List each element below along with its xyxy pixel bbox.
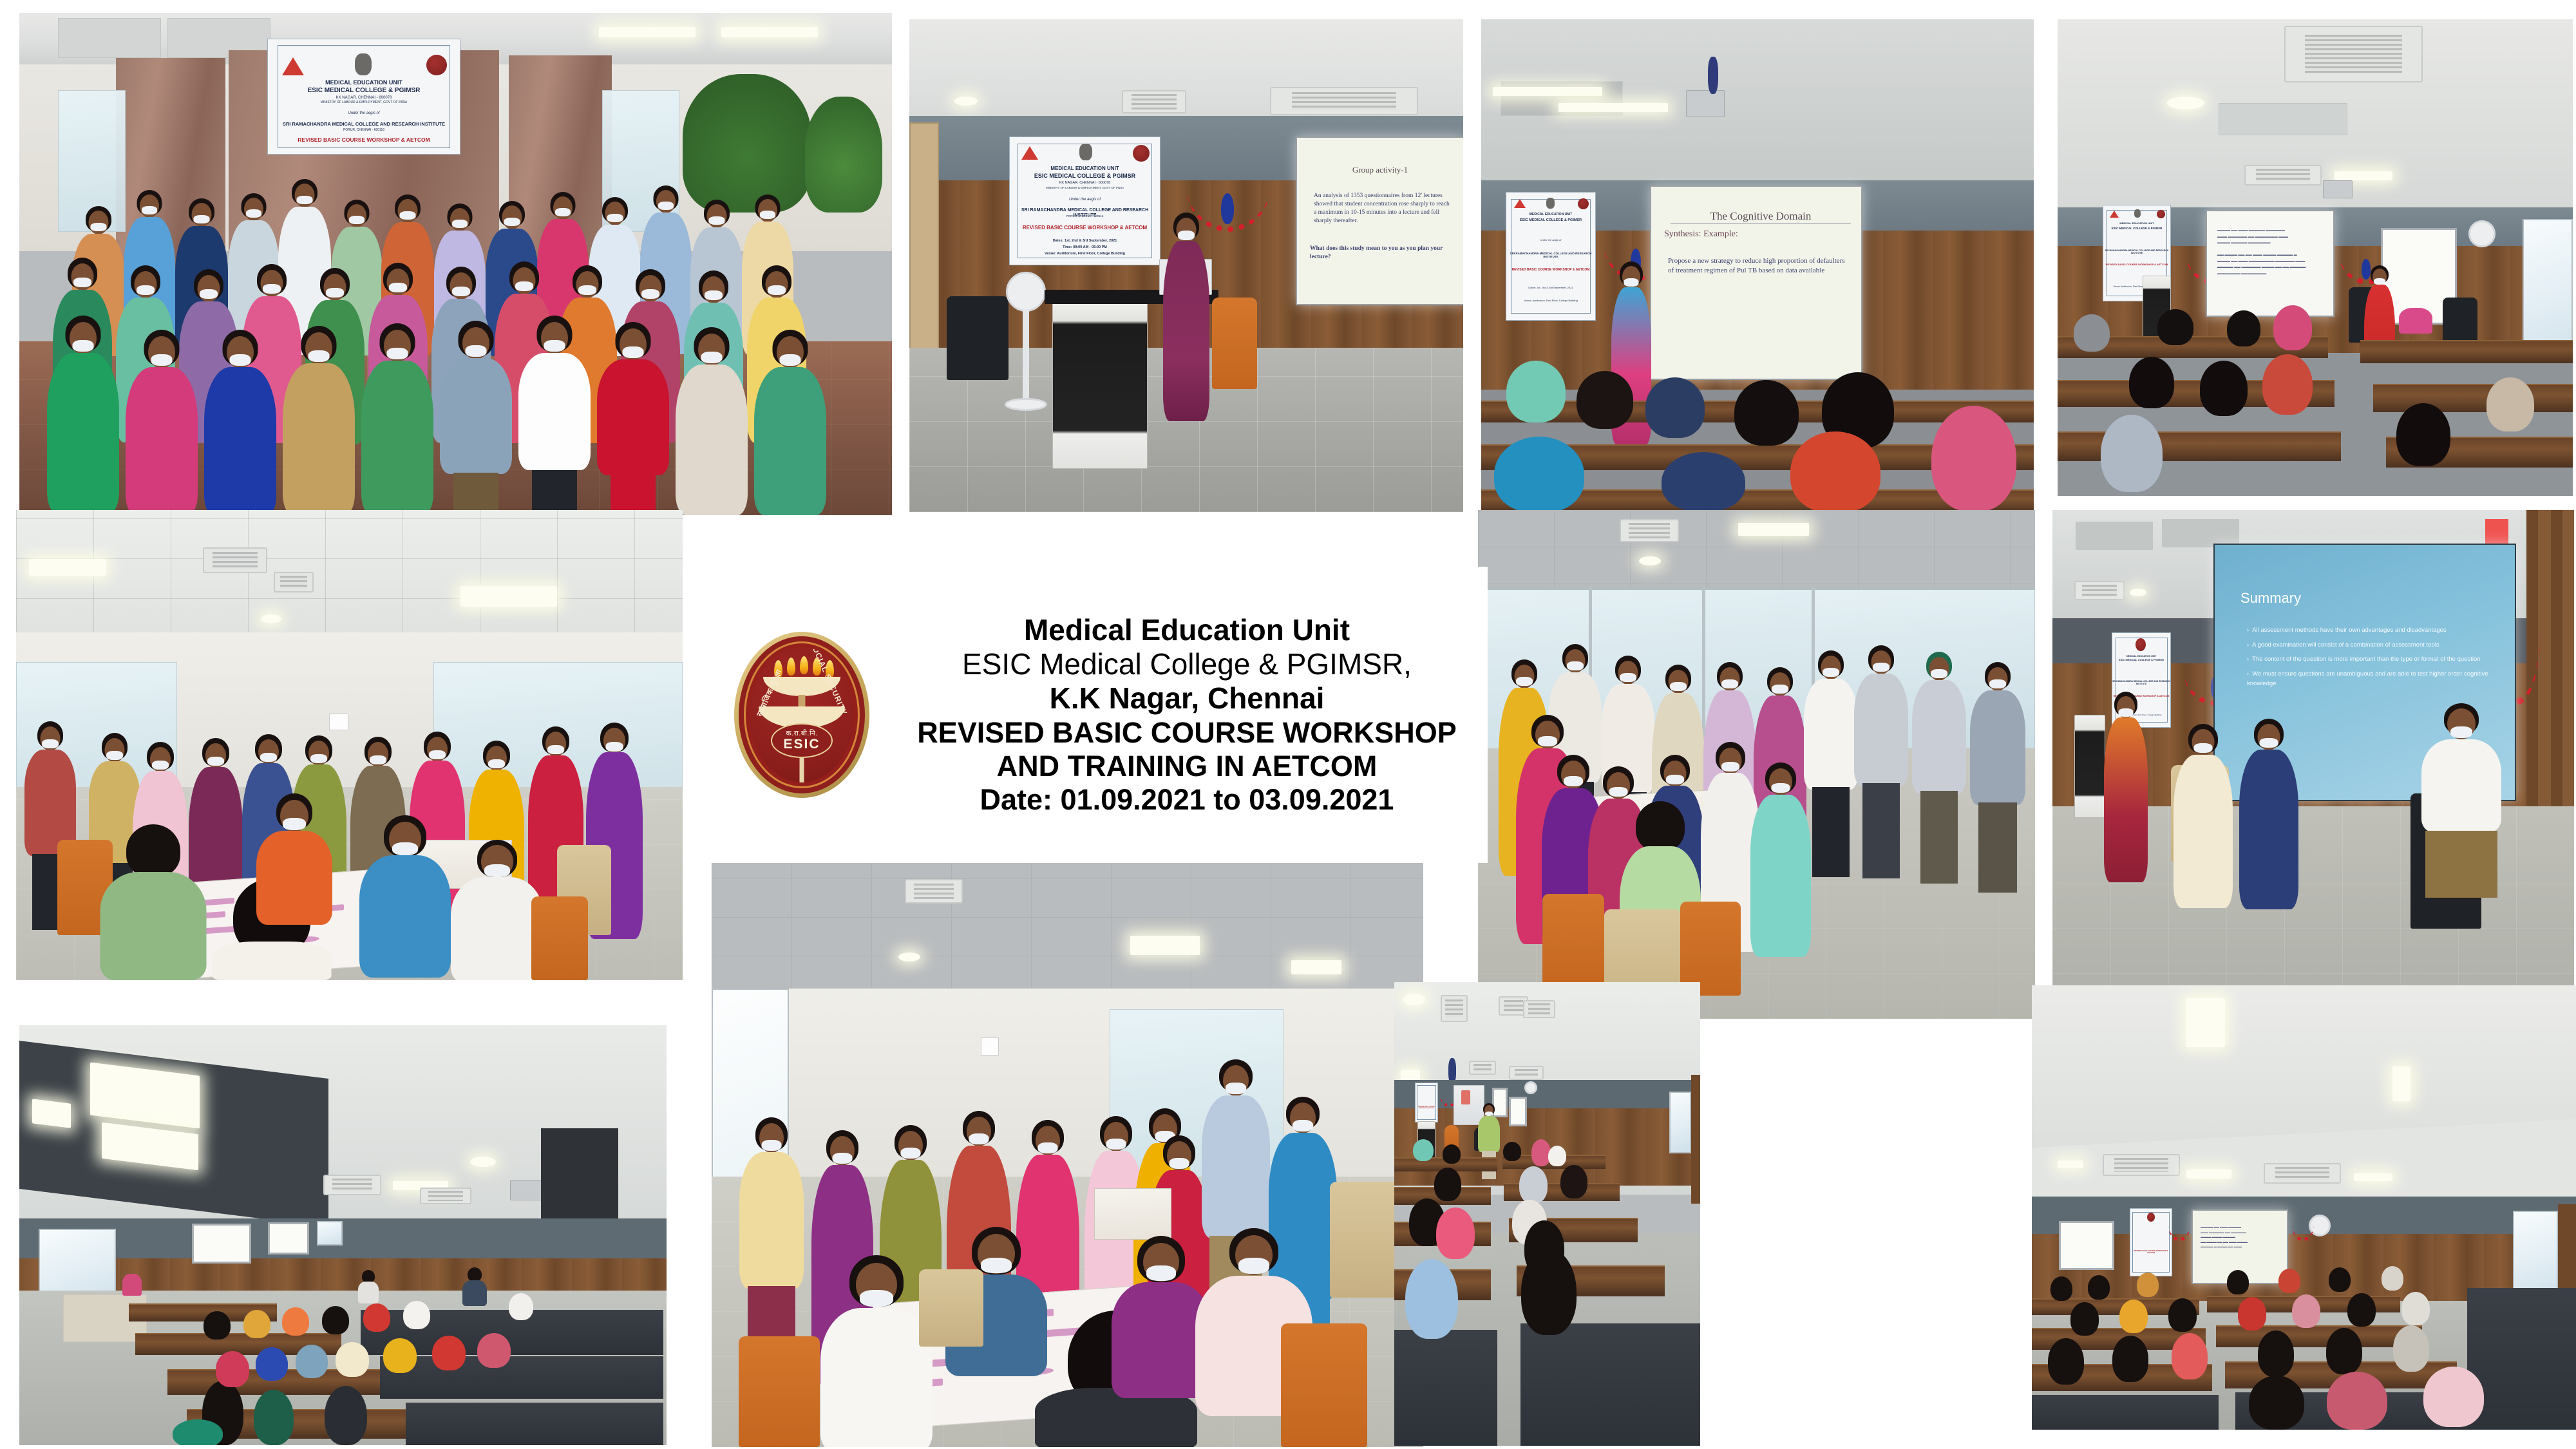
podium-banner-line-3: KK NAGAR, CHENNAI - 600078 — [1010, 181, 1160, 185]
banner-line-2: ESIC MEDICAL COLLEGE & PGIMSR — [268, 87, 460, 95]
title-line-6: Date: 01.09.2021 to 03.09.2021 — [886, 783, 1488, 817]
hall-banner-line-6: SRI RAMACHANDRA MEDICAL COLLEGE AND RESE… — [2103, 249, 2170, 254]
banner-line-7: PORUR, CHENNAI - 600116 — [268, 129, 460, 133]
cognitive-banner-line-8: REVISED BASIC COURSE WORKSHOP & AETCOM — [1506, 269, 1595, 272]
hall-banner-line-1: MEDICAL EDUCATION UNIT — [2103, 222, 2170, 225]
podium-banner-line-7: PORUR, CHENNAI - 600116 — [1010, 214, 1160, 218]
cognitive-banner-line-6: SRI RAMACHANDRA MEDICAL COLLEGE AND RESE… — [1506, 252, 1595, 258]
photo-small-group-discussion-left — [16, 510, 683, 980]
presenter-standing — [2103, 692, 2149, 885]
summary-bullet-1: All assessment methods have their own ad… — [2252, 627, 2447, 634]
caption-0: Large group photograph of workshop parti… — [0, 0, 1, 1]
event-banner: MEDICAL EDUCATION UNIT ESIC MEDICAL COLL… — [267, 39, 460, 155]
photo-auditorium-audience-right: REVISED BASIC COURSE WORKSHOP & AETCOM ▬… — [2032, 985, 2576, 1430]
slide-question-group-activity: What does this study mean to you as you … — [1310, 245, 1453, 261]
title-line-1: Medical Education Unit — [886, 613, 1488, 647]
event-banner-podium: MEDICAL EDUCATION UNIT ESIC MEDICAL COLL… — [1009, 137, 1160, 265]
podium-banner-line-10: Time: 09:00 AM - 05:00 PM — [1010, 245, 1160, 249]
title-line-3: K.K Nagar, Chennai — [886, 681, 1488, 715]
hall-banner-line-2: ESIC MEDICAL COLLEGE & PGIMSR — [2103, 227, 2170, 230]
podium-banner-line-5: Under the aegis of — [1010, 198, 1160, 202]
slide-bullet-cognitive-domain: Propose a new strategy to reduce high pr… — [1668, 256, 1850, 276]
title-line-5: AND TRAINING IN AETCOM — [886, 750, 1488, 783]
audience-banner-line-8: REVISED BASIC COURSE WORKSHOP & AETCOM — [2130, 1250, 2172, 1254]
center-title-block: क.रा.बी.नि. ESIC SOCIAL SECURITY सामाजिक… — [708, 567, 1488, 863]
slide-subtitle-cognitive-domain: Synthesis: Example: — [1664, 229, 1738, 240]
slide-text-placeholder: ▬▬▬▬ ▬▬ ▬▬▬ ▬▬▬▬▬ ▬▬▬▬▬▬▬▬▬ ▬▬▬▬▬▬ ▬▬ ▬▬… — [2217, 228, 2325, 277]
title-lines: Medical Education Unit ESIC Medical Coll… — [886, 613, 1488, 817]
cognitive-banner-line-11: Venue: Auditorium, First Floor, College … — [1506, 299, 1595, 303]
podium-banner-line-11: Venue: Auditorium, First Floor, College … — [1010, 252, 1160, 256]
event-banner-audience: REVISED BASIC COURSE WORKSHOP & AETCOM — [2130, 1208, 2172, 1276]
esic-badge: क.रा.बी.नि. ESIC — [771, 723, 833, 758]
title-line-4: REVISED BASIC COURSE WORKSHOP — [886, 716, 1488, 750]
photo-group-work-standing — [1478, 510, 2035, 1019]
esic-logo-icon: क.रा.बी.नि. ESIC SOCIAL SECURITY सामाजिक… — [734, 632, 869, 798]
cognitive-banner-line-2: ESIC MEDICAL COLLEGE & PGIMSR — [1506, 218, 1595, 222]
podium — [1052, 296, 1148, 469]
photo-collage: MEDICAL EDUCATION UNIT ESIC MEDICAL COLL… — [0, 0, 2576, 1449]
photo-podium-speaker: MEDICAL EDUCATION UNIT ESIC MEDICAL COLL… — [909, 19, 1463, 512]
banner-line-4: MINISTRY OF LABOUR & EMPLOYMENT, GOVT OF… — [268, 101, 460, 105]
cognitive-banner-line-1: MEDICAL EDUCATION UNIT — [1506, 213, 1595, 217]
summary-banner-line-1: MEDICAL EDUCATION UNIT — [2112, 655, 2170, 658]
photo-lecture-hall-wide: MEDICAL EDUCATION UNIT ESIC MEDICAL COLL… — [2058, 19, 2573, 496]
title-line-2: ESIC Medical College & PGIMSR, — [886, 647, 1488, 681]
event-banner-cognitive: MEDICAL EDUCATION UNIT ESIC MEDICAL COLL… — [1506, 192, 1596, 321]
photo-table-group-activity-center — [712, 860, 1423, 1447]
summary-banner-line-6: SRI RAMACHANDRA MEDICAL COLLEGE AND RESE… — [2112, 681, 2170, 685]
photo-group-photo: MEDICAL EDUCATION UNIT ESIC MEDICAL COLL… — [19, 13, 892, 515]
banner-line-5: Under the aegis of — [268, 111, 460, 116]
podium-banner-line-9: Dates: 1st, 2nd & 3rd September, 2021 — [1010, 239, 1160, 243]
photo-cognitive-domain-session: MEDICAL EDUCATION UNIT ESIC MEDICAL COLL… — [1481, 19, 2034, 512]
banner-line-6: SRI RAMACHANDRA MEDICAL COLLEGE AND RESE… — [268, 122, 460, 128]
projection-screen-group-activity: Group activity-1 An analysis of 1353 que… — [1296, 137, 1463, 305]
slide-body-group-activity: An analysis of 1353 questionnaires from … — [1314, 192, 1453, 225]
slide-title-group-activity: Group activity-1 — [1297, 165, 1463, 175]
projection-screen-hall: ▬▬▬▬ ▬▬ ▬▬▬ ▬▬▬▬▬ ▬▬▬▬▬▬▬▬▬ ▬▬▬▬▬▬ ▬▬ ▬▬… — [2206, 210, 2334, 317]
photo-captions: Large group photograph of workshop parti… — [0, 0, 1, 1]
cognitive-banner-line-5: Under the aegis of — [1506, 239, 1595, 242]
podium-banner-line-1: MEDICAL EDUCATION UNIT — [1010, 166, 1160, 171]
slide-title-summary: Summary — [2240, 590, 2301, 607]
slide-text-placeholder-audience: ▬▬▬▬▬ ▬▬ ▬▬▬ ▬▬▬▬▬▬▬▬ ▬▬▬▬▬▬ ▬▬ ▬▬▬▬▬▬▬▬… — [2201, 1225, 2280, 1249]
podium-banner-line-2: ESIC MEDICAL COLLEGE & PGIMSR — [1010, 173, 1160, 179]
photo-facilitator-walking-aisle: REVISED BASIC COURSE WORKSHOP & AETCOM — [1394, 982, 1700, 1446]
speaker — [1162, 213, 1211, 425]
photo-auditorium-audience-left — [19, 1025, 667, 1445]
esic-acronym: ESIC — [783, 737, 820, 751]
summary-bullet-2: A good examination will consist of a com… — [2252, 641, 2439, 649]
podium-banner-line-4: MINISTRY OF LABOUR & EMPLOYMENT, GOVT OF… — [1010, 186, 1160, 189]
facilitator-on-stool — [2420, 703, 2503, 929]
photo-summary-session: MEDICAL EDUCATION UNIT ESIC MEDICAL COLL… — [2052, 510, 2574, 1019]
summary-banner-line-2: ESIC MEDICAL COLLEGE & PGIMSR — [2112, 659, 2170, 662]
banner-line-3: KK NAGAR, CHENNAI - 600078 — [268, 96, 460, 100]
cognitive-banner-line-9: Dates: 1st, 2nd & 3rd September, 2021 — [1506, 287, 1595, 290]
summary-bullet-3: The content of the question is more impo… — [2252, 656, 2480, 663]
summary-bullet-4: We must ensure questions are unambiguous… — [2247, 670, 2488, 687]
projection-screen-cognitive-domain: The Cognitive Domain Synthesis: Example:… — [1650, 185, 1862, 380]
podium-banner-line-8: REVISED BASIC COURSE WORKSHOP & AETCOM — [1010, 225, 1160, 231]
hall-banner-line-8: REVISED BASIC COURSE WORKSHOP & AETCOM — [2103, 263, 2170, 267]
slide-title-cognitive-domain: The Cognitive Domain — [1671, 210, 1851, 223]
slide-bullets-summary: ›All assessment methods have their own a… — [2247, 626, 2498, 694]
banner-line-8: REVISED BASIC COURSE WORKSHOP & AETCOM — [268, 137, 460, 144]
aisle-banner-line-8: REVISED BASIC COURSE WORKSHOP & AETCOM — [1416, 1106, 1437, 1110]
event-banner-aisle: REVISED BASIC COURSE WORKSHOP & AETCOM — [1415, 1083, 1438, 1122]
banner-line-1: MEDICAL EDUCATION UNIT — [268, 79, 460, 86]
